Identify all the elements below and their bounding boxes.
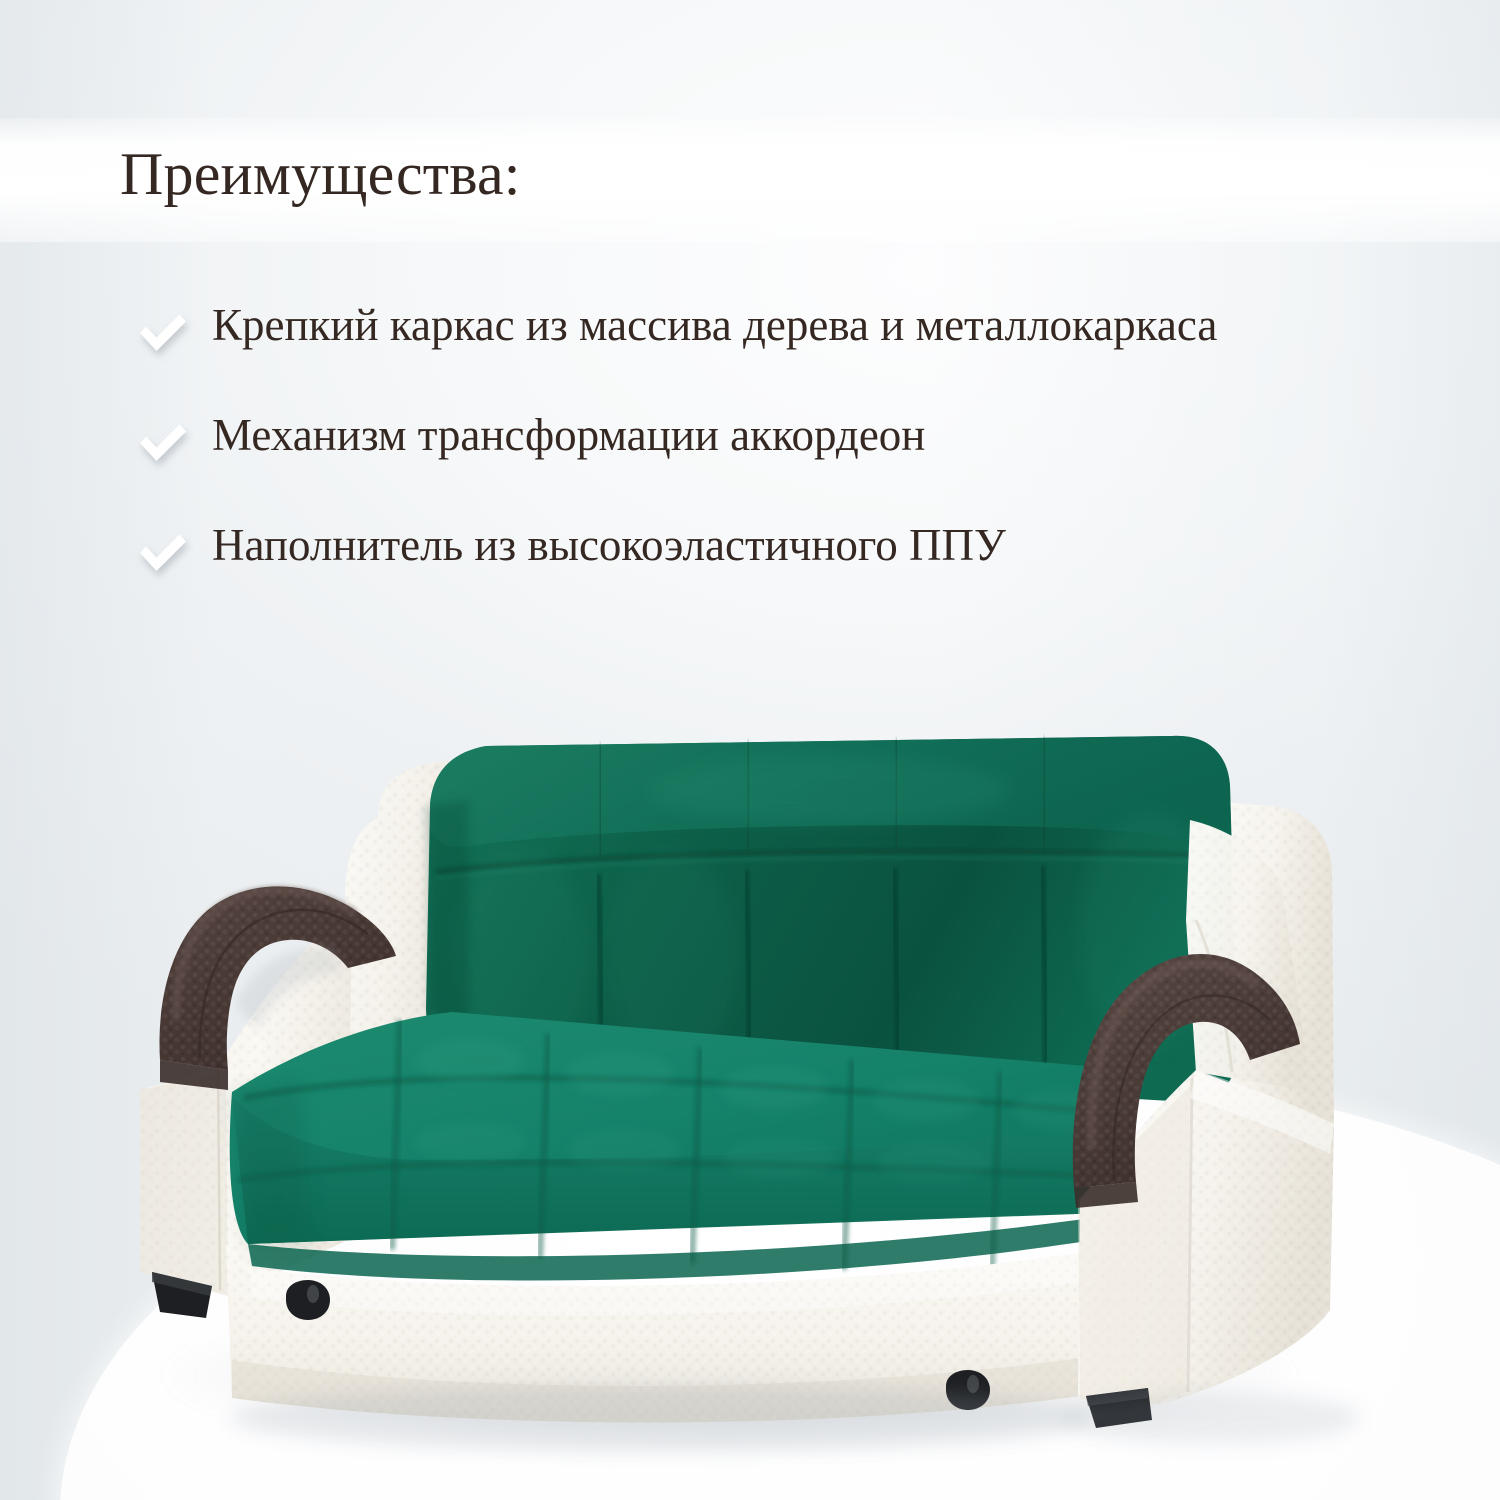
list-item: Механизм трансформации аккордеон <box>132 406 1362 474</box>
checkmark-icon <box>132 522 194 584</box>
list-item-label: Наполнитель из высокоэластичного ППУ <box>212 516 1006 576</box>
benefits-list: Крепкий каркас из массива дерева и метал… <box>132 296 1362 584</box>
checkmark-icon <box>132 412 194 474</box>
sofa-right-arm-wing <box>1186 820 1312 1092</box>
product-benefits-card: Преимущества: Крепкий каркас из массива … <box>0 0 1500 1500</box>
sofa-backrest <box>426 736 1236 1102</box>
page-title: Преимущества: <box>120 143 521 206</box>
product-floor-shadow <box>170 1300 1290 1450</box>
list-item-label: Механизм трансформации аккордеон <box>212 406 925 466</box>
list-item: Крепкий каркас из массива дерева и метал… <box>132 296 1362 364</box>
sofa-back-left-wing <box>345 758 470 1062</box>
checkmark-icon <box>132 302 194 364</box>
list-item: Наполнитель из высокоэластичного ППУ <box>132 516 1362 584</box>
list-item-label: Крепкий каркас из массива дерева и метал… <box>212 296 1217 356</box>
sofa-back-right-wing <box>1196 800 1334 1130</box>
sofa-left-armrest <box>159 886 396 1090</box>
